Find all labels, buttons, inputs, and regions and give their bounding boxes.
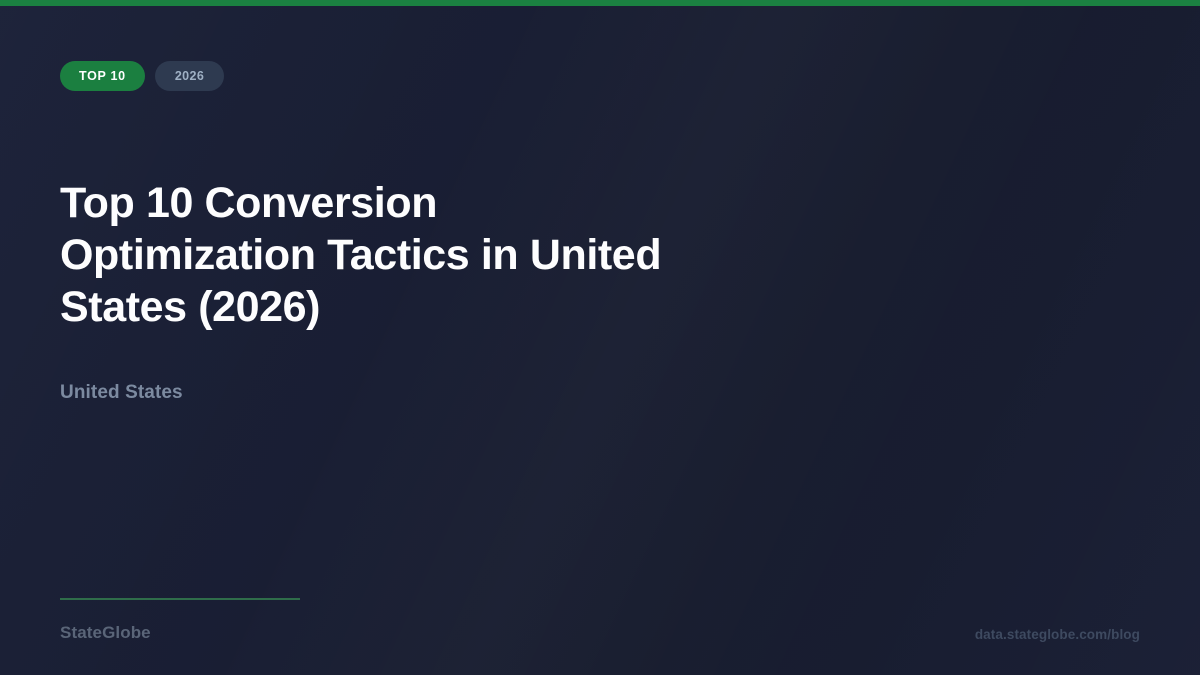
footer-divider	[60, 598, 300, 600]
badge-row: TOP 10 2026	[60, 61, 224, 91]
footer-url: data.stateglobe.com/blog	[975, 626, 1140, 644]
page-subtitle: United States	[60, 381, 183, 405]
page-title: Top 10 Conversion Optimization Tactics i…	[60, 177, 680, 333]
badge-top-10[interactable]: TOP 10	[60, 61, 145, 91]
badge-year[interactable]: 2026	[155, 61, 224, 91]
footer-brand: StateGlobe	[60, 622, 151, 644]
top-accent-bar	[0, 0, 1200, 6]
title-slide: TOP 10 2026 Top 10 Conversion Optimizati…	[0, 0, 1200, 675]
